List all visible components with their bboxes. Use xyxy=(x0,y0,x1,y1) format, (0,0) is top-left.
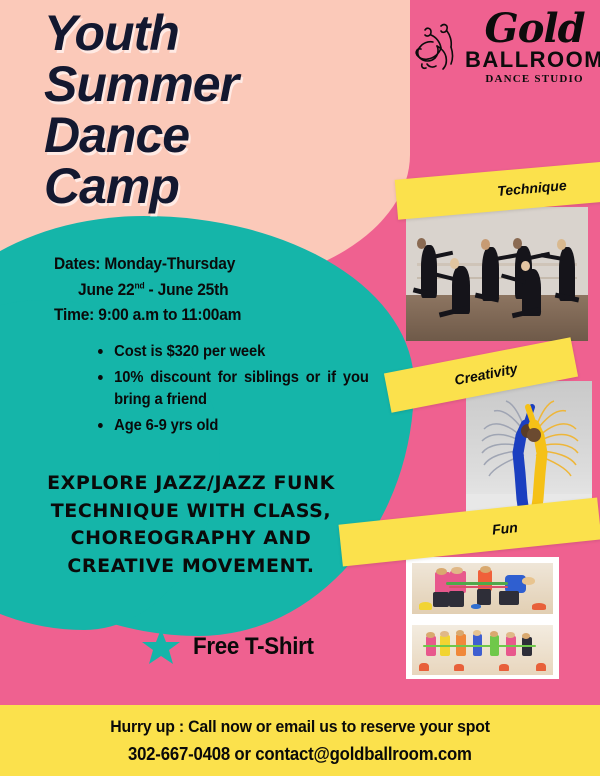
logo-subtitle: DANCE STUDIO xyxy=(465,74,600,85)
dates-label: Dates: Monday-Thursday xyxy=(54,252,355,278)
logo-name-text: BALLROOM xyxy=(465,49,600,71)
cone-marker xyxy=(532,603,546,609)
kid-head xyxy=(506,632,514,638)
resistance-band xyxy=(449,586,508,588)
dancer-head xyxy=(521,261,530,272)
dancing-couple-icon xyxy=(411,20,463,80)
kid-head xyxy=(456,630,464,636)
dancer-head xyxy=(450,258,459,269)
kid-legs xyxy=(433,592,449,606)
kid-head xyxy=(480,566,491,573)
title-line-4: Camp xyxy=(44,161,374,212)
logo-wordmark: Gold BALLROOM DANCE STUDIO xyxy=(465,10,600,85)
photo-technique-content xyxy=(406,207,588,341)
flyer-poster: Youth Summer Dance Camp xyxy=(0,0,600,776)
resistance-band xyxy=(446,582,508,585)
kid-legs xyxy=(477,589,491,605)
date-range-start: June 22 xyxy=(78,281,134,299)
kid-head xyxy=(522,577,535,585)
program-description: EXPLORE JAZZ/JAZZ FUNK TECHNIQUE WITH CL… xyxy=(26,470,356,580)
photo-fun-content xyxy=(406,557,559,679)
free-tshirt-perk: Free T-Shirt xyxy=(141,627,323,667)
list-item: 10% discount for siblings or if you brin… xyxy=(98,367,369,411)
time-label: Time: 9:00 a.m to 11:00am xyxy=(54,303,355,329)
fun-image-bottom xyxy=(412,625,553,676)
cone-marker xyxy=(536,663,546,671)
yellow-dancer xyxy=(527,407,542,513)
dancer-head xyxy=(417,238,426,249)
kid-head xyxy=(426,632,434,638)
resistance-band xyxy=(423,645,536,647)
banner-call-to-action: Hurry up : Call now or email us to reser… xyxy=(110,717,490,737)
star-icon xyxy=(141,627,181,667)
kid-head xyxy=(440,631,448,637)
date-ordinal-suffix: nd xyxy=(134,280,144,290)
dancer-head xyxy=(481,239,490,250)
fun-image-top xyxy=(412,563,553,614)
banner-contact-info: 302-667-0408 or contact@goldballroom.com xyxy=(128,744,472,765)
title-line-3: Dance xyxy=(44,110,374,161)
kid-legs xyxy=(449,591,465,606)
photo-technique xyxy=(406,207,588,341)
cone-marker xyxy=(454,664,464,671)
list-item: Cost is $320 per week xyxy=(98,341,360,363)
dancer-head xyxy=(557,239,566,250)
cone-marker xyxy=(419,663,429,671)
kid-head xyxy=(473,630,481,636)
dancer-figure xyxy=(482,247,498,301)
kid-legs xyxy=(499,591,519,605)
title-line-1: Youth xyxy=(44,8,374,59)
details-bullet-list: Cost is $320 per week 10% discount for s… xyxy=(98,341,374,437)
page-title: Youth Summer Dance Camp xyxy=(44,8,374,212)
dancer-figure xyxy=(559,247,575,301)
free-tshirt-label: Free T-Shirt xyxy=(193,633,314,661)
title-line-2: Summer xyxy=(44,59,374,110)
cone-marker xyxy=(471,604,481,608)
logo-script-text: Gold xyxy=(465,10,600,48)
kid-head xyxy=(490,631,498,637)
contact-banner: Hurry up : Call now or email us to reser… xyxy=(0,705,600,776)
cone-marker xyxy=(419,602,432,609)
brand-logo: Gold BALLROOM DANCE STUDIO xyxy=(411,10,586,118)
kid-figure xyxy=(478,570,492,591)
date-range-end: - June 25th xyxy=(144,281,228,299)
photo-fun xyxy=(406,557,559,679)
date-range: June 22nd - June 25th xyxy=(78,278,356,304)
camp-details: Dates: Monday-Thursday June 22nd - June … xyxy=(54,252,374,441)
kid-head xyxy=(451,567,462,574)
list-item: Age 6-9 yrs old xyxy=(98,415,360,437)
cone-marker xyxy=(499,664,509,671)
